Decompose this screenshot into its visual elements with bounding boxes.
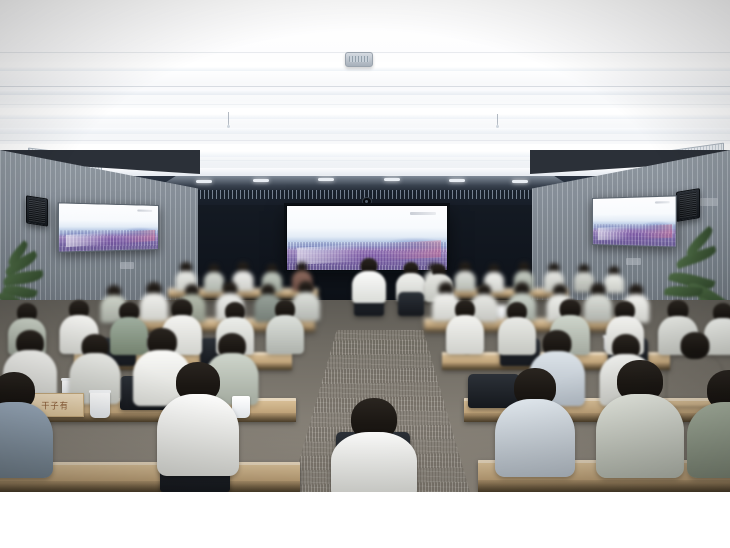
ceiling-spot-icon (496, 125, 499, 128)
side-display-left[interactable] (58, 202, 159, 252)
smoke-detector-icon (345, 52, 373, 67)
soffit-downlight-icon (384, 178, 400, 181)
screen-watermark (410, 212, 436, 215)
person (266, 300, 304, 353)
photo-letterbox (0, 492, 730, 548)
person (334, 398, 414, 492)
person (0, 372, 50, 474)
person (352, 258, 386, 302)
ceiling-spot-icon (227, 125, 230, 128)
person (446, 300, 484, 353)
soffit-downlight-icon (449, 179, 465, 182)
chair (398, 292, 424, 316)
person (160, 362, 236, 472)
wall-speaker-right (676, 188, 700, 222)
soffit-downlight-icon (318, 178, 334, 181)
person (600, 360, 680, 474)
wall-plate (626, 258, 641, 265)
wall-plate (120, 262, 134, 269)
conference-camera-icon (362, 197, 372, 205)
soffit-downlight-icon (253, 179, 269, 182)
ceiling-light-strip (0, 128, 730, 134)
person (498, 368, 572, 474)
person (690, 370, 730, 474)
ceiling-light-strip (0, 90, 730, 95)
wall-sign (700, 198, 718, 206)
ceiling-light-strip (0, 108, 730, 119)
soffit-face (150, 176, 580, 192)
wall-speaker-left (26, 195, 48, 226)
potted-plant-right (660, 232, 730, 308)
potted-plant-left (0, 236, 56, 298)
conference-room-photo: 干子有 张建华 (0, 0, 730, 492)
soffit-downlight-icon (196, 180, 212, 183)
lidded-mug (90, 392, 110, 418)
soffit-downlight-icon (512, 180, 528, 183)
screenshot-root: 干子有 张建华 (0, 0, 730, 548)
